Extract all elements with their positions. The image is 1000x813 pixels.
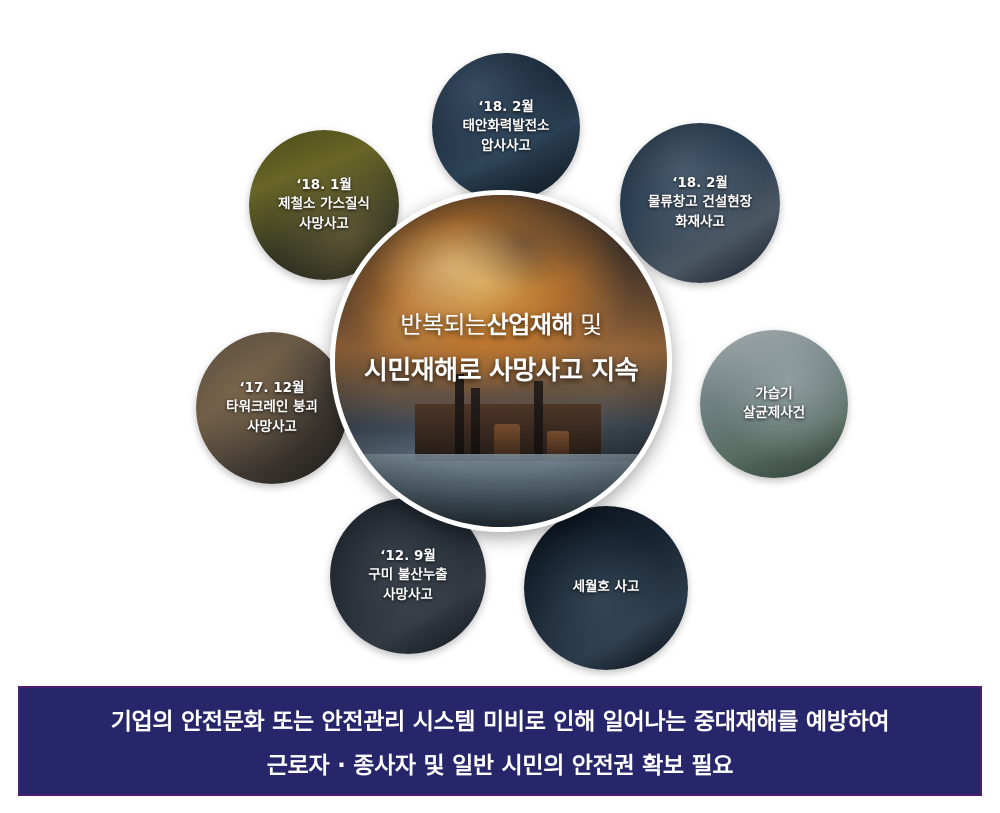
node-humidifier-disinfectant-label: 가습기 살균제사건 [737, 385, 811, 423]
infographic-root: ‘18. 2월 태안화력발전소 압사사고 ‘18. 2월 물류창고 건설현장 화… [0, 0, 1000, 813]
diagram-canvas: ‘18. 2월 태안화력발전소 압사사고 ‘18. 2월 물류창고 건설현장 화… [0, 0, 1000, 682]
center-text-line1: 반복되는산업재해 및 [335, 305, 667, 340]
node-tower-crane-collapse[interactable]: ‘17. 12월 타워크레인 붕괴 사망사고 [196, 332, 348, 484]
summary-banner-line2: 근로자 · 종사자 및 일반 시민의 안전권 확보 필요 [267, 746, 733, 780]
node-taean-power-plant-label: ‘18. 2월 태안화력발전소 압사사고 [457, 98, 556, 155]
summary-banner: 기업의 안전문화 또는 안전관리 시스템 미비로 인해 일어나는 중대재해를 예… [18, 686, 982, 796]
node-sewol-ferry[interactable]: 세월호 사고 [524, 506, 688, 670]
center-text-line1-bold: 산업재해 [487, 311, 573, 339]
center-text-line2-a: 시민재해로 [364, 356, 481, 386]
center-text-line1-prefix: 반복되는 [400, 311, 486, 339]
center-text-line2: 시민재해로사망사고 지속 [335, 350, 667, 387]
center-hub-text: 반복되는산업재해 및 시민재해로사망사고 지속 [335, 305, 667, 387]
node-steel-mill-gas-label: ‘18. 1월 제철소 가스질식 사망사고 [272, 176, 376, 233]
node-sewol-ferry-label: 세월호 사고 [567, 578, 646, 597]
center-hub[interactable]: 반복되는산업재해 및 시민재해로사망사고 지속 [330, 190, 672, 532]
node-warehouse-fire-label: ‘18. 2월 물류창고 건설현장 화재사고 [642, 174, 758, 231]
summary-banner-line1: 기업의 안전문화 또는 안전관리 시스템 미비로 인해 일어나는 중대재해를 예… [111, 702, 890, 736]
center-text-line2-b: 사망사고 지속 [489, 356, 638, 386]
node-taean-power-plant[interactable]: ‘18. 2월 태안화력발전소 압사사고 [432, 53, 580, 201]
node-tower-crane-collapse-label: ‘17. 12월 타워크레인 붕괴 사망사고 [220, 379, 324, 436]
node-humidifier-disinfectant[interactable]: 가습기 살균제사건 [700, 330, 848, 478]
center-text-line1-suffix: 및 [580, 311, 602, 339]
node-gumi-acid-leak-label: ‘12. 9월 구미 불산누출 사망사고 [362, 547, 453, 604]
